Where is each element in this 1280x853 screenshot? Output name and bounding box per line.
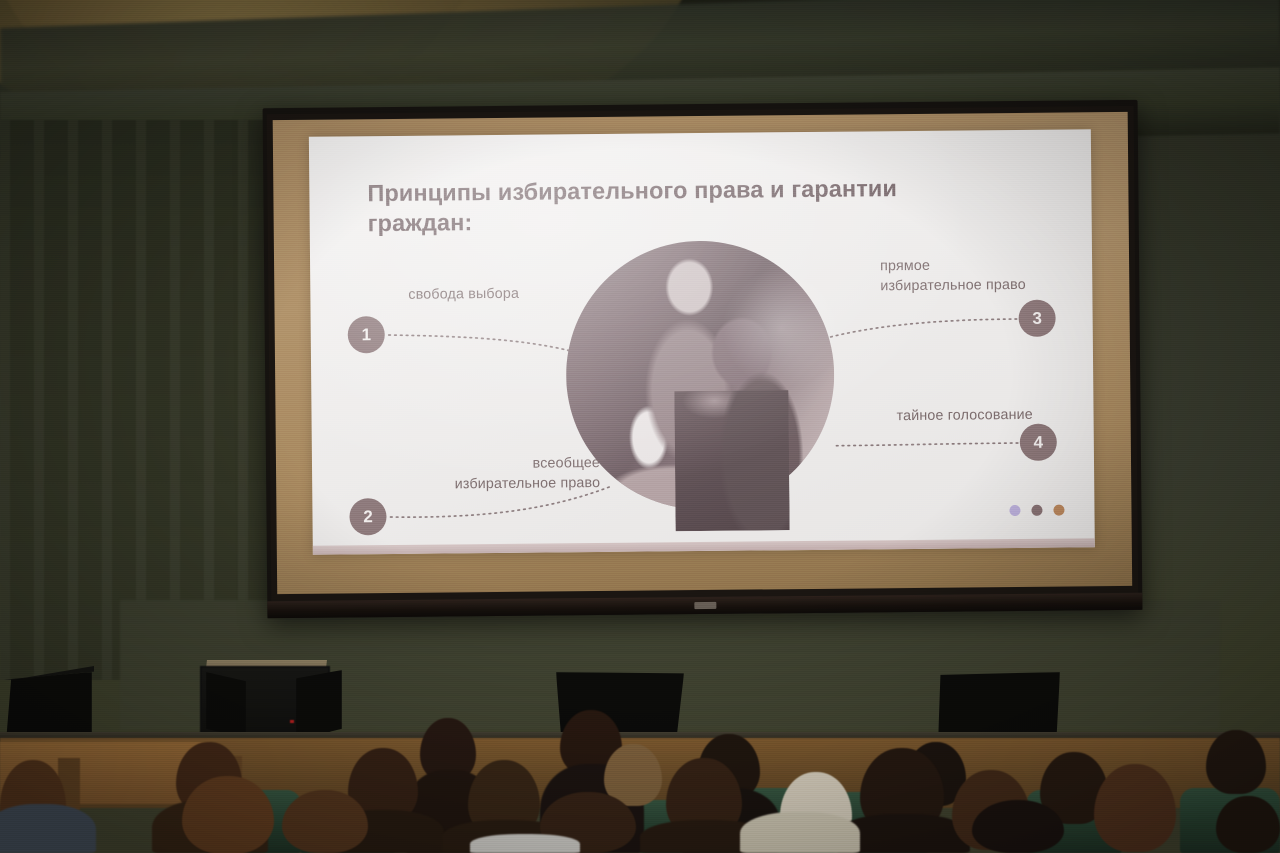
projection-screen: Принципы избирательного права и гарантии… (263, 100, 1143, 618)
curtain-left (0, 120, 300, 680)
audience-hoodie (740, 812, 860, 853)
label-3: прямое избирательное право (880, 256, 1026, 297)
pagination-dots (1009, 505, 1064, 517)
audience-head (972, 800, 1064, 853)
label-1: свобода выбора (408, 285, 519, 306)
badge-4: 4 (1020, 424, 1057, 461)
auditorium-photo: Принципы избирательного права и гарантии… (0, 0, 1280, 853)
label-2-line2: избирательное право (400, 474, 600, 496)
loudspeaker-rack-left (206, 672, 246, 738)
audience-head (282, 790, 368, 853)
badge-3: 3 (1018, 300, 1055, 337)
screen-brand-plate (694, 602, 716, 609)
badge-1: 1 (348, 316, 385, 353)
label-4: тайное голосование (896, 406, 1032, 427)
label-2: всеобщее избирательное право (400, 454, 600, 495)
loudspeaker-rack-right (296, 670, 342, 740)
audience-head (1216, 796, 1280, 853)
audience-head (1094, 764, 1176, 852)
pagination-dot-1 (1009, 505, 1020, 516)
pagination-dot-3 (1053, 505, 1064, 516)
audience-head (182, 776, 274, 853)
presentation-slide: Принципы избирательного права и гарантии… (309, 129, 1095, 554)
label-3-line2: избирательное право (880, 276, 1026, 297)
ballot-photo-overflow-duotone (674, 390, 789, 531)
center-photo (565, 240, 836, 533)
label-2-line1: всеобщее (400, 454, 600, 476)
connector-4 (836, 443, 1018, 446)
connector-1 (389, 333, 595, 360)
label-3-line1: прямое (880, 256, 1026, 277)
rack-led-1 (290, 720, 294, 723)
center-photo-overflow (674, 390, 789, 531)
photo-highlight (721, 268, 842, 389)
badge-2: 2 (349, 498, 386, 535)
audience-body (0, 804, 96, 853)
pagination-dot-2 (1031, 505, 1042, 516)
audience-shirt (470, 834, 580, 853)
slide-title: Принципы избирательного права и гарантии… (367, 172, 1008, 238)
audience-head (1206, 730, 1266, 794)
